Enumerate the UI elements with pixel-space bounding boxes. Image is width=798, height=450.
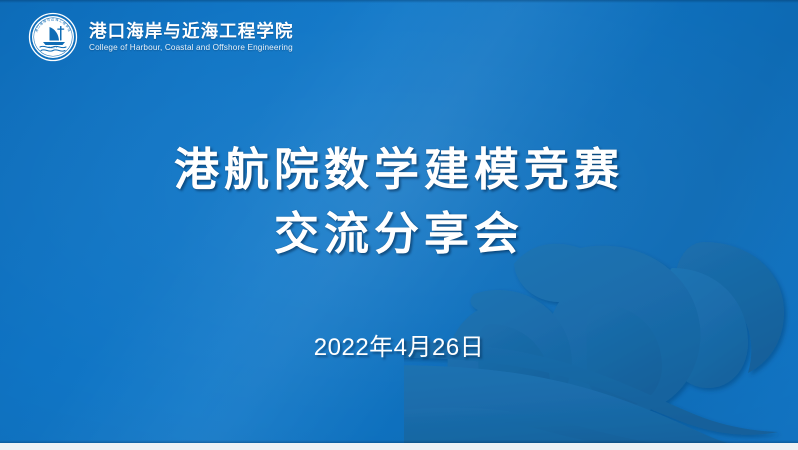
slide-title-block: 港航院数学建模竞赛 交流分享会 bbox=[0, 138, 798, 266]
presentation-slide: 港口海岸与近海工程学院 河海大学 港口海岸与近海工程学院 College of … bbox=[0, 0, 798, 450]
slide-date: 2022年4月26日 bbox=[0, 327, 798, 362]
slide-title-line-1: 港航院数学建模竞赛 bbox=[0, 138, 798, 202]
college-name-en: College of Harbour, Coastal and Offshore… bbox=[89, 43, 294, 53]
slide-title-line-2: 交流分享会 bbox=[0, 202, 798, 266]
college-name-cn: 港口海岸与近海工程学院 bbox=[89, 21, 294, 41]
college-seal-emblem: 港口海岸与近海工程学院 河海大学 bbox=[28, 12, 78, 62]
college-name-block: 港口海岸与近海工程学院 College of Harbour, Coastal … bbox=[89, 21, 294, 53]
college-logo-lockup: 港口海岸与近海工程学院 河海大学 港口海岸与近海工程学院 College of … bbox=[28, 12, 294, 62]
